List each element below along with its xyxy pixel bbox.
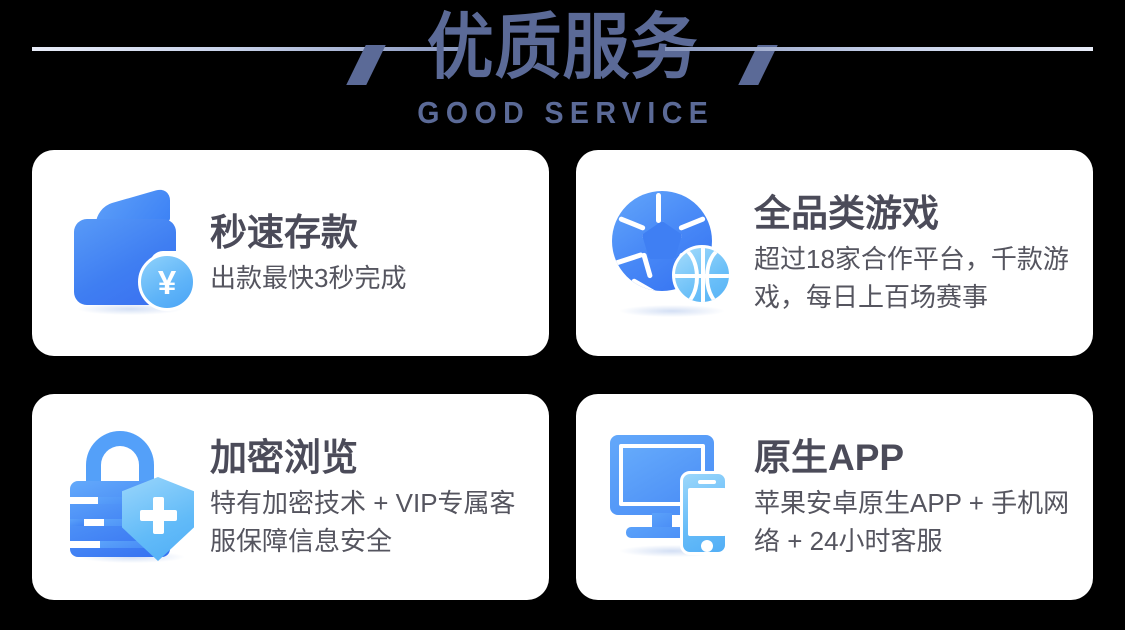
monitor-phone-icon (608, 429, 744, 565)
phone-home-button (701, 540, 713, 552)
service-card-encrypted-browsing[interactable]: 加密浏览 特有加密技术 + VIP专属客服保障信息安全 (32, 394, 549, 600)
page-header: 优质服务 GOOD SERVICE (0, 0, 1125, 140)
card-text-block: 秒速存款 出款最快3秒完成 (210, 209, 529, 297)
card-text-block: 原生APP 苹果安卓原生APP + 手机网络 + 24小时客服 (754, 434, 1073, 560)
card-text-block: 加密浏览 特有加密技术 + VIP专属客服保障信息安全 (210, 434, 529, 560)
soccer-seam (618, 216, 646, 231)
yen-coin-icon: ¥ (138, 253, 196, 311)
page-subtitle: GOOD SERVICE (45, 96, 1080, 130)
service-card-native-app[interactable]: 原生APP 苹果安卓原生APP + 手机网络 + 24小时客服 (576, 394, 1093, 600)
card-subtitle: 超过18家合作平台，千款游戏，每日上百场赛事 (754, 240, 1073, 316)
card-title: 加密浏览 (210, 436, 529, 480)
soccer-seam (631, 278, 659, 291)
soccer-seam (656, 193, 661, 223)
soccer-seam (612, 252, 644, 267)
card-title: 原生APP (754, 436, 1073, 480)
phone-icon (680, 471, 728, 555)
card-text-block: 全品类游戏 超过18家合作平台，千款游戏，每日上百场赛事 (754, 190, 1073, 316)
basketball-seam (705, 246, 732, 305)
lock-stripe-gap (70, 519, 84, 526)
icon-shadow (620, 305, 724, 317)
soccer-basketball-icon (608, 185, 744, 321)
lock-shield-icon (64, 429, 200, 565)
decorative-rule-right-icon (665, 47, 1093, 51)
soccer-seam (678, 216, 706, 231)
card-subtitle: 特有加密技术 + VIP专属客服保障信息安全 (210, 484, 529, 560)
plus-icon (140, 510, 177, 521)
card-title: 秒速存款 (210, 211, 529, 255)
service-card-instant-deposit[interactable]: ¥ 秒速存款 出款最快3秒完成 (32, 150, 549, 356)
basketball-seam (672, 246, 699, 305)
card-subtitle: 出款最快3秒完成 (210, 259, 529, 297)
service-card-grid: ¥ 秒速存款 出款最快3秒完成 (32, 150, 1093, 600)
service-card-all-games[interactable]: 全品类游戏 超过18家合作平台，千款游戏，每日上百场赛事 (576, 150, 1093, 356)
basketball-icon (672, 245, 732, 305)
phone-screen (688, 488, 726, 536)
phone-speaker (698, 480, 716, 484)
card-title: 全品类游戏 (754, 192, 1073, 236)
wallet-coin-icon: ¥ (64, 185, 200, 321)
card-subtitle: 苹果安卓原生APP + 手机网络 + 24小时客服 (754, 484, 1073, 560)
